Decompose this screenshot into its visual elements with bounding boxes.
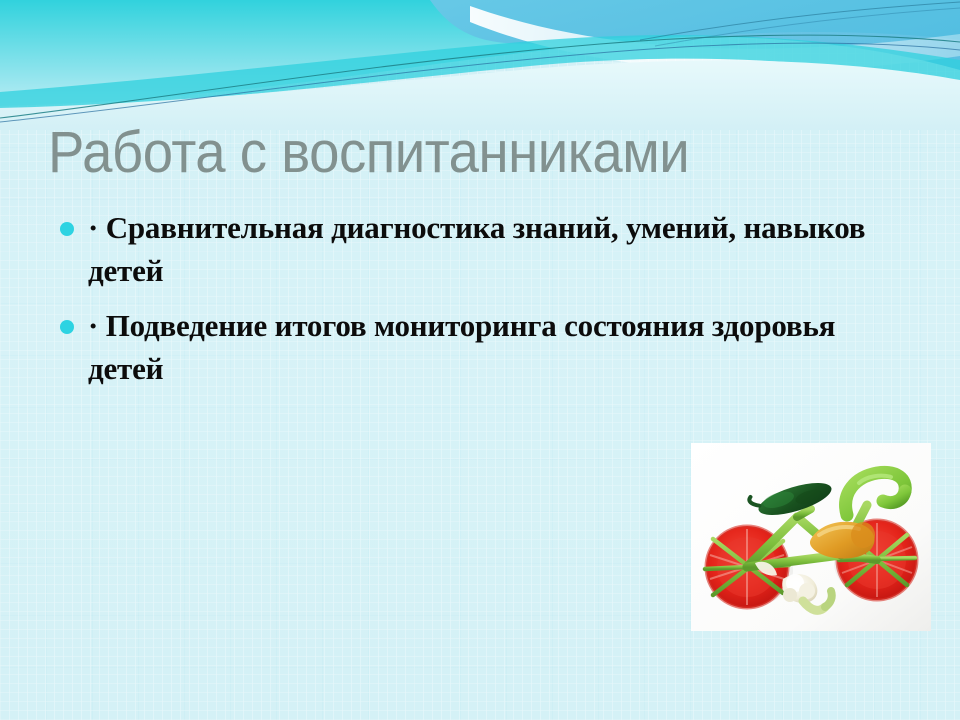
- slide-canvas: Работа с воспитанниками · Сравнительная …: [0, 0, 960, 720]
- bullet-dot-icon: [60, 320, 74, 334]
- bullet-dot-icon: [60, 222, 74, 236]
- vegetable-bicycle-photo: [691, 443, 931, 631]
- bullet-list: · Сравнительная диагностика знаний, умен…: [52, 206, 882, 402]
- list-item-text: · Сравнительная диагностика знаний, умен…: [88, 210, 865, 288]
- list-item: · Сравнительная диагностика знаний, умен…: [52, 206, 882, 292]
- page-title: Работа с воспитанниками: [48, 122, 856, 184]
- list-item: · Подведение итогов мониторинга состояни…: [52, 304, 882, 390]
- list-item-text: · Подведение итогов мониторинга состояни…: [88, 308, 835, 386]
- wave-banner: [0, 0, 960, 130]
